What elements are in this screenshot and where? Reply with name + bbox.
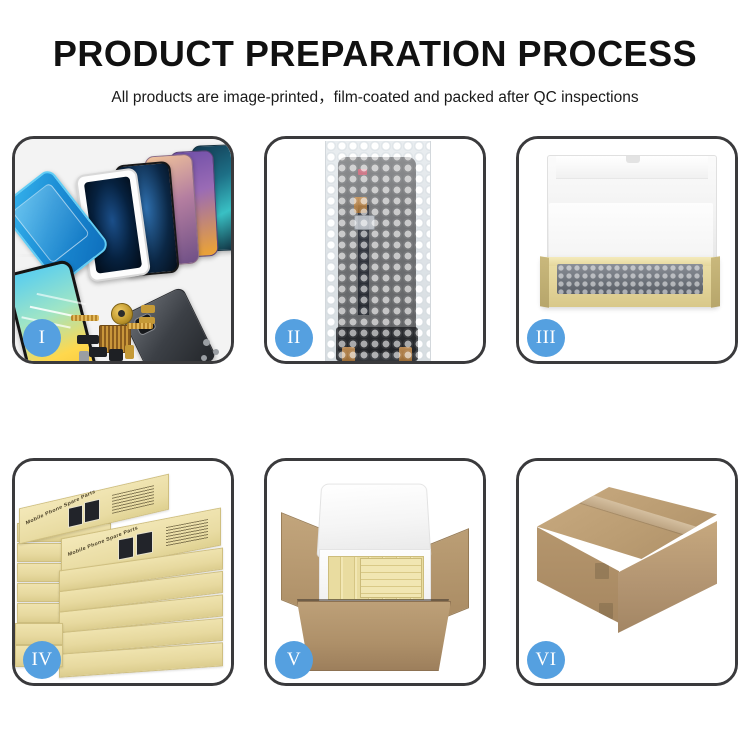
box-product-image-1b [84,499,100,524]
lcd-flex-connector [354,215,375,230]
qc-sticker [358,169,367,175]
process-step-panel-5: V [264,458,486,686]
step-badge-1: I [23,319,61,357]
process-step-panel-4: Mobile Phone Spare Parts Mobile Phone Sp… [12,458,234,686]
yellow-inner-box-tray [541,257,719,307]
screw-part-1 [203,339,210,346]
step-badge-5: V [275,641,313,679]
step-badge-2: II [275,319,313,357]
flex-tape-right [399,347,412,361]
flex-connector-part-1 [71,315,99,321]
box-product-image-2b [136,531,153,556]
battery-connector-part [125,345,134,359]
cable-part-2 [89,347,107,357]
process-step-panel-3: III [516,136,738,364]
box-side-left [540,256,549,308]
box-product-image-1a [68,505,83,528]
page-title: PRODUCT PREPARATION PROCESS [0,34,750,74]
product-preparation-infographic: PRODUCT PREPARATION PROCESS All products… [0,0,750,750]
lcd-screen-assembly [338,157,416,353]
box-product-image-2a [118,536,134,560]
box-side-right [711,256,720,308]
foam-front-sheet [549,203,713,261]
flex-tape-left [342,347,355,361]
header: PRODUCT PREPARATION PROCESS All products… [0,0,750,107]
step-badge-3: III [527,319,565,357]
carton-notch-upper [595,563,609,579]
cable-part-1 [77,335,99,344]
packed-yellow-boxes-stack [360,558,422,598]
process-step-panel-6: VI [516,458,738,686]
process-step-panel-1: I [12,136,234,364]
gold-contact-part [141,305,155,313]
page-subtitle: All products are image-printed，film-coat… [0,85,750,107]
screw-part-2 [213,349,219,355]
step-badge-4: IV [23,641,61,679]
step-badge-6: VI [527,641,565,679]
screw-part-3 [201,355,207,361]
flex-connector-part-2 [127,323,153,329]
camera-module-part [109,349,123,361]
small-bracket-part [79,351,89,361]
carton-front-face [297,601,451,671]
bubble-wrapped-contents [557,264,703,294]
foam-cooler-lid [317,484,432,558]
bubble-wrap-sleeve [325,141,431,361]
process-step-grid: I II [12,136,738,686]
process-step-panel-2: II [264,136,486,364]
speaker-coil-part [111,303,133,325]
flex-tape-top [354,197,367,213]
